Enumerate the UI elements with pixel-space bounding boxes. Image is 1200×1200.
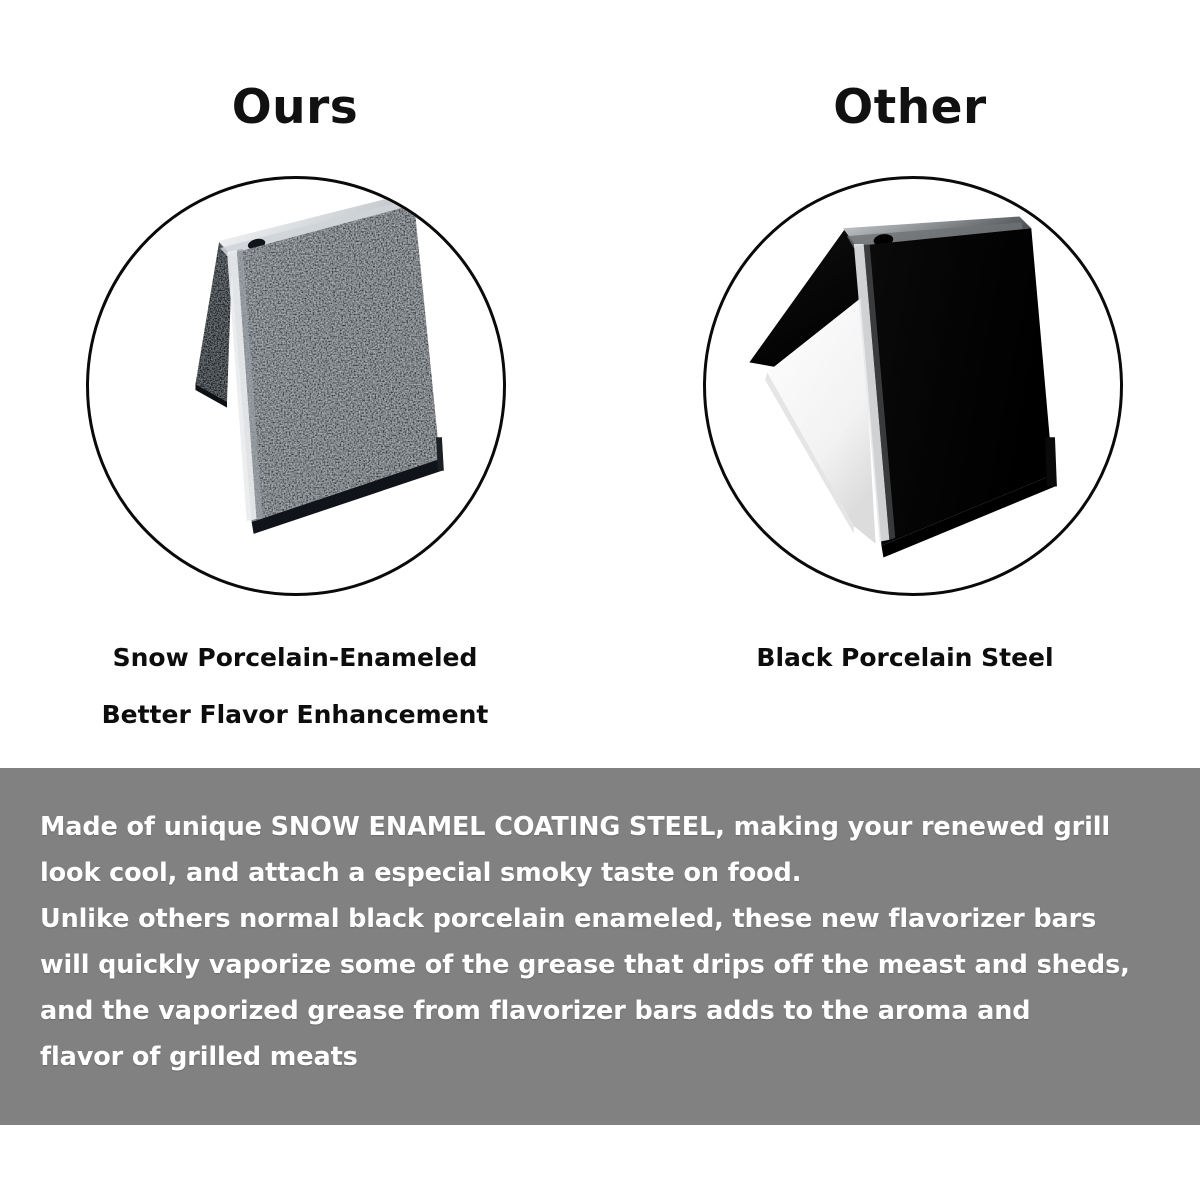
caption-ours-line-2: Better Flavor Enhancement [0, 702, 595, 727]
description-line-4: will quickly vaporize some of the grease… [40, 942, 1166, 988]
comparison-column-other: Other [600, 0, 1200, 768]
black-porcelain-bar-illustration [706, 179, 1120, 593]
snow-enamel-bar-illustration [89, 179, 503, 593]
product-comparison-infographic: Ours [0, 0, 1200, 1200]
description-line-2: look cool, and attach a especial smoky t… [40, 850, 1166, 896]
flavorizer-bar-black-porcelain-icon [706, 179, 1120, 593]
page-footer-spacer [0, 1125, 1200, 1200]
description-line-6: flavor of grilled meats [40, 1034, 1166, 1080]
description-line-1: Made of unique SNOW ENAMEL COATING STEEL… [40, 804, 1166, 850]
column-heading-other: Other [610, 84, 1200, 131]
product-circle-ours [86, 176, 506, 596]
comparison-column-ours: Ours [0, 0, 600, 768]
flavorizer-bar-snow-enamel-icon [89, 179, 503, 593]
description-panel: Made of unique SNOW ENAMEL COATING STEEL… [0, 768, 1200, 1125]
description-line-3: Unlike others normal black porcelain ena… [40, 896, 1166, 942]
caption-ours-line-1: Snow Porcelain-Enameled [0, 645, 595, 670]
product-circle-other [703, 176, 1123, 596]
column-heading-ours: Ours [0, 84, 595, 131]
caption-other-line-1: Black Porcelain Steel [605, 645, 1200, 670]
comparison-section: Ours [0, 0, 1200, 768]
description-line-5: and the vaporized grease from flavorizer… [40, 988, 1166, 1034]
